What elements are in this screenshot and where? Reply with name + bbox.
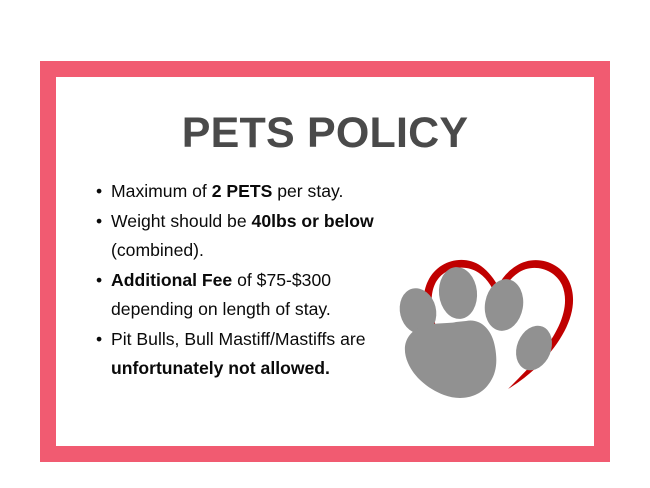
policy-text-weight-limit: Weight should be 40lbs or below (combine… (111, 211, 374, 260)
bullet-icon: • (96, 177, 102, 206)
list-item: • Maximum of 2 PETS per stay. (94, 177, 414, 206)
policy-text-additional-fee: Additional Fee of $75-$300 depending on … (111, 270, 331, 319)
bullet-icon: • (96, 325, 102, 354)
sign-content-area: PETS POLICY • Maximum of 2 PETS per stay… (56, 77, 594, 446)
page-title: PETS POLICY (56, 112, 594, 155)
paw-print-icon (395, 265, 558, 398)
policy-text-breed-restriction: Pit Bulls, Bull Mastiff/Mastiffs are unf… (111, 329, 366, 378)
sign-border-frame: PETS POLICY • Maximum of 2 PETS per stay… (40, 61, 610, 462)
paw-main-pad (405, 321, 496, 398)
list-item: • Pit Bulls, Bull Mastiff/Mastiffs are u… (94, 325, 414, 383)
policy-list: • Maximum of 2 PETS per stay. • Weight s… (94, 177, 414, 384)
bullet-icon: • (96, 207, 102, 236)
pets-policy-sign: PETS POLICY • Maximum of 2 PETS per stay… (0, 0, 650, 488)
paw-toe-3 (481, 276, 527, 334)
paw-toe-4 (510, 320, 559, 375)
list-item: • Additional Fee of $75-$300 depending o… (94, 266, 414, 324)
heart-paw-icon (388, 205, 594, 405)
list-item: • Weight should be 40lbs or below (combi… (94, 207, 414, 265)
policy-text-max-pets: Maximum of 2 PETS per stay. (111, 181, 343, 201)
bullet-icon: • (96, 266, 102, 295)
